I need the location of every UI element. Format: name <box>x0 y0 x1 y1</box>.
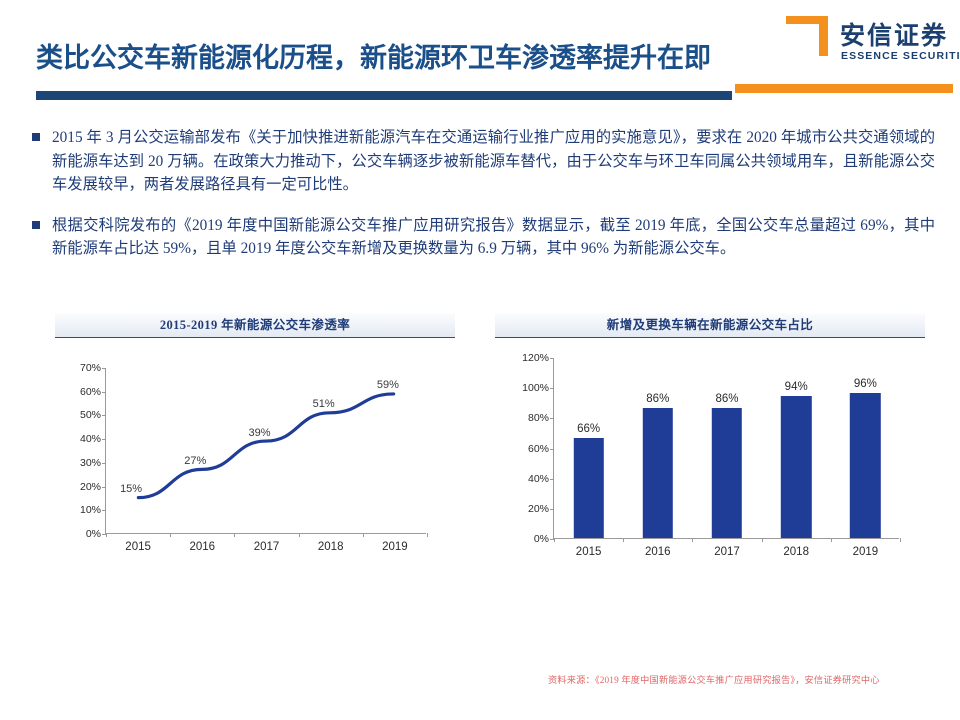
y-axis-tick-label: 70% <box>80 362 101 374</box>
bullet-paragraph-1: 2015 年 3 月公交运输部发布《关于加快推进新能源汽车在交通运输行业推广应用… <box>30 126 935 197</box>
plot-area-right: 0%20%40%60%80%100%120%66%201586%201686%2… <box>553 358 899 539</box>
data-point-label: 39% <box>248 427 270 439</box>
y-axis-tick-label: 100% <box>522 382 549 394</box>
y-axis-tick-label: 40% <box>528 473 549 485</box>
y-axis-tick-label: 40% <box>80 433 101 445</box>
bar-value-label: 86% <box>715 393 738 405</box>
y-axis-tick-mark <box>102 487 106 488</box>
y-axis-tick-label: 0% <box>534 533 549 545</box>
chart-canvas-left: 0%10%20%30%40%50%60%70%20152016201720182… <box>55 338 455 590</box>
x-axis-tick-mark <box>554 538 555 542</box>
y-axis-tick-mark <box>102 368 106 369</box>
y-axis-tick-mark <box>550 388 554 389</box>
y-axis-tick-label: 20% <box>528 503 549 515</box>
chart-panel-penetration-rate: 2015-2019 年新能源公交车渗透率 0%10%20%30%40%50%60… <box>55 313 455 593</box>
x-axis-tick-mark <box>363 533 364 537</box>
x-axis-tick-mark <box>299 533 300 537</box>
y-axis-tick-label: 0% <box>86 528 101 540</box>
bar <box>712 408 742 538</box>
y-axis-tick-label: 10% <box>80 504 101 516</box>
y-axis-tick-label: 120% <box>522 352 549 364</box>
bar <box>573 438 603 538</box>
y-axis-tick-mark <box>550 358 554 359</box>
y-axis-tick-mark <box>102 392 106 393</box>
y-axis-tick-label: 20% <box>80 481 101 493</box>
x-axis-tick-mark <box>623 538 624 542</box>
chart-canvas-right: 0%20%40%60%80%100%120%66%201586%201686%2… <box>495 338 925 590</box>
y-axis-tick-mark <box>550 418 554 419</box>
line-series <box>106 368 426 533</box>
x-axis-label: 2019 <box>382 541 408 553</box>
data-point-label: 27% <box>184 455 206 467</box>
line-path <box>138 394 393 498</box>
page-title: 类比公交车新能源化历程，新能源环卫车渗透率提升在即 <box>36 36 711 75</box>
x-axis-tick-mark <box>170 533 171 537</box>
bar <box>850 393 880 538</box>
y-axis-tick-label: 30% <box>80 457 101 469</box>
source-note: 资料来源：《2019 年度中国新能源公交车推广应用研究报告》，安信证券研究中心 <box>548 672 880 686</box>
x-axis-tick-mark <box>900 538 901 542</box>
x-axis-label: 2015 <box>576 546 602 558</box>
slide-header: 类比公交车新能源化历程，新能源环卫车渗透率提升在即 安信证券 ESSENCE S… <box>0 0 960 110</box>
x-axis-tick-mark <box>427 533 428 537</box>
bar-value-label: 86% <box>646 393 669 405</box>
x-axis-label: 2015 <box>125 541 151 553</box>
x-axis-tick-mark <box>692 538 693 542</box>
plot-area-left: 0%10%20%30%40%50%60%70%20152016201720182… <box>105 368 426 534</box>
x-axis-label: 2017 <box>714 546 740 558</box>
x-axis-tick-mark <box>831 538 832 542</box>
x-axis-label: 2016 <box>190 541 216 553</box>
x-axis-label: 2019 <box>853 546 879 558</box>
y-axis-tick-mark <box>102 415 106 416</box>
bar-value-label: 96% <box>854 378 877 390</box>
x-axis-label: 2018 <box>318 541 344 553</box>
data-point-label: 59% <box>377 379 399 391</box>
y-axis-tick-label: 50% <box>80 409 101 421</box>
header-rule-orange <box>735 84 953 93</box>
y-axis-tick-mark <box>102 510 106 511</box>
logo-chinese-name: 安信证券 <box>840 16 948 52</box>
y-axis-tick-label: 60% <box>528 443 549 455</box>
bullet-paragraph-2: 根据交科院发布的《2019 年度中国新能源公交车推广应用研究报告》数据显示，截至… <box>30 214 935 261</box>
x-axis-tick-mark <box>106 533 107 537</box>
bar-value-label: 66% <box>577 423 600 435</box>
x-axis-label: 2018 <box>783 546 809 558</box>
x-axis-label: 2016 <box>645 546 671 558</box>
y-axis-tick-mark <box>550 509 554 510</box>
bar-value-label: 94% <box>785 381 808 393</box>
company-logo: 安信证券 ESSENCE SECURITIES <box>778 12 954 78</box>
logo-english-name: ESSENCE SECURITIES <box>841 50 960 62</box>
data-point-label: 51% <box>313 398 335 410</box>
body-text: 2015 年 3 月公交运输部发布《关于加快推进新能源汽车在交通运输行业推广应用… <box>30 126 935 278</box>
chart-title-right: 新增及更换车辆在新能源公交车占比 <box>495 313 925 338</box>
header-rule-navy <box>36 91 732 100</box>
y-axis-tick-label: 60% <box>80 386 101 398</box>
y-axis-tick-mark <box>102 463 106 464</box>
x-axis-label: 2017 <box>254 541 280 553</box>
logo-bracket-icon <box>778 12 832 64</box>
y-axis-tick-mark <box>550 449 554 450</box>
bar <box>643 408 673 538</box>
data-point-label: 15% <box>120 483 142 495</box>
x-axis-tick-mark <box>234 533 235 537</box>
y-axis-tick-mark <box>550 479 554 480</box>
y-axis-tick-label: 80% <box>528 412 549 424</box>
y-axis-tick-mark <box>102 439 106 440</box>
x-axis-tick-mark <box>762 538 763 542</box>
bar <box>781 396 811 538</box>
chart-panel-new-replacement-share: 新增及更换车辆在新能源公交车占比 0%20%40%60%80%100%120%6… <box>495 313 925 593</box>
chart-title-left: 2015-2019 年新能源公交车渗透率 <box>55 313 455 338</box>
